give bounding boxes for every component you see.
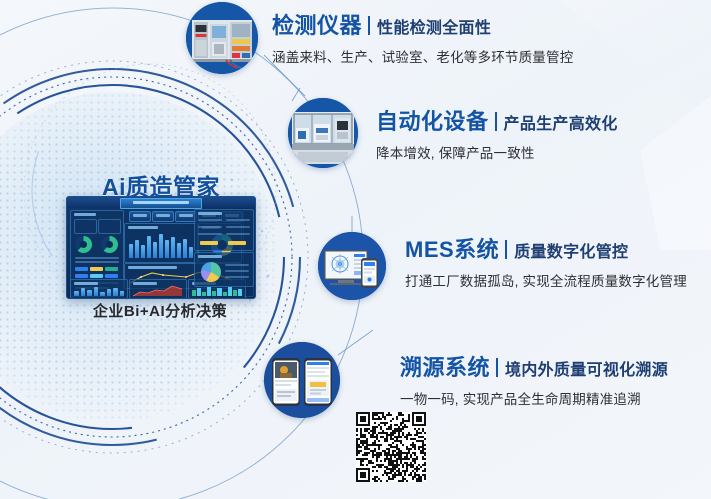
- dashboard-caption: 企业Bi+AI分析决策: [66, 300, 254, 321]
- mes-system-screens-photo: [318, 232, 386, 300]
- feature-desc: 降本增效, 保障产品一致性: [376, 142, 618, 162]
- dashboard-mini-bar: [70, 279, 128, 299]
- qr-code[interactable]: [356, 412, 426, 482]
- title-divider: [368, 16, 370, 35]
- poster-canvas: Ai质造管家: [0, 0, 711, 499]
- dashboard-gauge: [101, 236, 118, 253]
- dashboard-nav-pill: [129, 211, 151, 222]
- inspection-instrument-photo: [186, 2, 258, 74]
- dashboard-mini-area: [129, 279, 187, 299]
- traceability-phones-photo: [264, 342, 340, 418]
- feature-desc: 一物一码, 实现产品全生命周期精准追溯: [400, 388, 668, 408]
- dashboard-kpi: [74, 219, 97, 234]
- feature-subtitle: 性能检测全面性: [377, 14, 491, 38]
- automation-equipment-photo: [288, 98, 358, 168]
- dashboard-title-plate: [120, 198, 202, 209]
- dashboard-nav-pill: [152, 211, 174, 222]
- title-divider: [495, 112, 497, 131]
- title-divider: [505, 240, 507, 259]
- dashboard-bar-chart: [124, 223, 198, 263]
- dashboard-right-panels: [194, 209, 252, 285]
- feature-desc: 打通工厂数据孤岛, 实现全流程质量数字化管理: [405, 270, 687, 290]
- feature-subtitle: 产品生产高效化: [504, 110, 618, 134]
- feature-subtitle: 境内外质量可视化溯源: [505, 356, 668, 380]
- feature-title: 自动化设备: [376, 104, 489, 136]
- feature-title: 检测仪器: [272, 8, 362, 40]
- feature-title: MES系统: [405, 232, 499, 264]
- dashboard-kpi: [98, 219, 121, 234]
- dashboard-gauge: [75, 236, 92, 253]
- feature-subtitle: 质量数字化管控: [514, 238, 628, 262]
- feature-title: 溯源系统: [400, 350, 490, 382]
- feature-desc: 涵盖来料、生产、试验室、老化等多环节质量管控: [272, 46, 573, 66]
- title-divider: [496, 358, 498, 377]
